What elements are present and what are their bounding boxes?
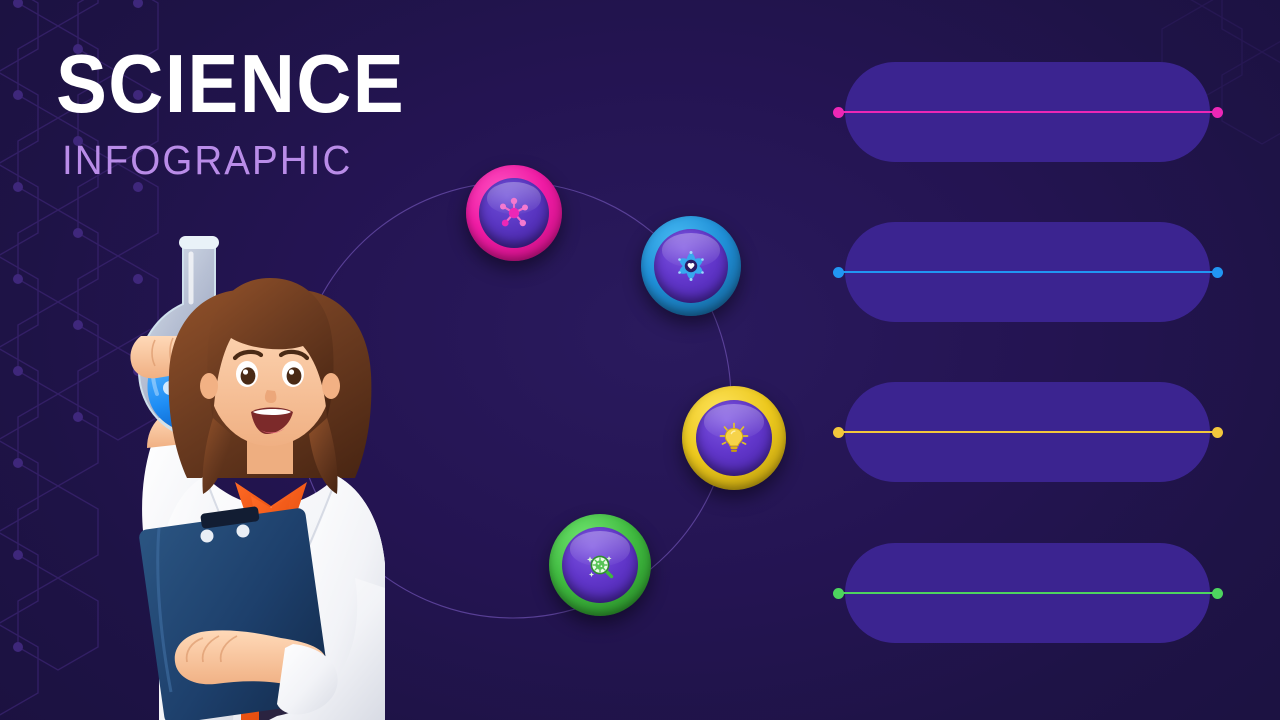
card-dot-right-4 — [1212, 588, 1223, 599]
card-rule-1 — [840, 111, 1218, 113]
card-dot-right-3 — [1212, 427, 1223, 438]
lightbulb-icon — [712, 416, 756, 460]
card-dot-left-3 — [833, 427, 844, 438]
microscope-germ-icon — [578, 543, 622, 587]
badge-inner-yellow — [696, 400, 772, 476]
card-rule-2 — [840, 271, 1218, 273]
badge-inner-blue — [654, 229, 728, 303]
badge-research[interactable] — [549, 514, 651, 616]
scientist-illustration — [55, 228, 525, 720]
page-subtitle: INFOGRAPHIC — [62, 138, 413, 183]
card-dot-right-2 — [1212, 267, 1223, 278]
card-dot-left-4 — [833, 588, 844, 599]
badge-atom[interactable] — [641, 216, 741, 316]
badge-idea[interactable] — [682, 386, 786, 490]
page-title: SCIENCE — [56, 44, 405, 124]
card-dot-right-1 — [1212, 107, 1223, 118]
atom-flower-icon — [671, 246, 711, 286]
title-block: SCIENCE INFOGRAPHIC — [56, 44, 435, 183]
card-rule-4 — [840, 592, 1218, 594]
card-dot-left-2 — [833, 267, 844, 278]
infographic-slide: SCIENCE INFOGRAPHIC — [0, 0, 1280, 720]
badge-inner-green — [562, 527, 638, 603]
card-dot-left-1 — [833, 107, 844, 118]
card-rule-3 — [840, 431, 1218, 433]
